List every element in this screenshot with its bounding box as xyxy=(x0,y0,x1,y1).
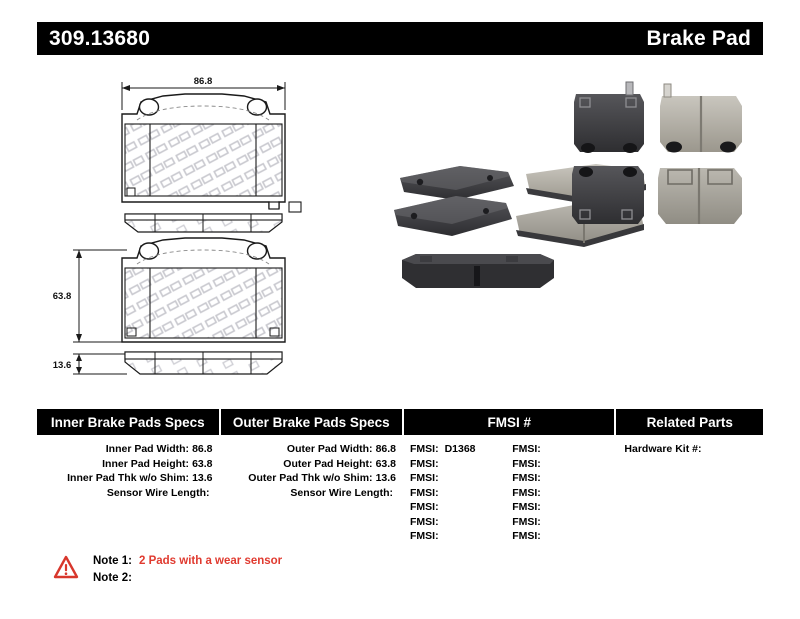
fmsi-right-column: FMSI: FMSI: FMSI: FMSI: FMSI: xyxy=(512,442,614,544)
fmsi-row: FMSI: xyxy=(410,515,512,530)
spec-row: Inner Pad Thk w/o Shim:13.6 xyxy=(37,471,219,486)
note-value: 2 Pads with a wear sensor xyxy=(139,555,282,567)
fmsi-label: FMSI: xyxy=(512,443,541,455)
fmsi-label: FMSI: xyxy=(410,458,439,470)
photo-pad-topdown-4 xyxy=(658,168,742,224)
notes-section: Note 1:2 Pads with a wear sensor Note 2: xyxy=(53,553,553,587)
specifications-table: Inner Brake Pads Specs Inner Pad Width:8… xyxy=(37,409,763,534)
fmsi-label: FMSI: xyxy=(410,501,439,513)
photo-pad-topdown-2 xyxy=(572,166,644,224)
spec-label: Sensor Wire Length: xyxy=(290,487,393,499)
note-row-2: Note 2: xyxy=(93,570,282,587)
column-body-related-parts: Hardware Kit #: xyxy=(616,435,763,457)
column-body-inner-specs: Inner Pad Width:86.8 Inner Pad Height:63… xyxy=(37,435,219,500)
fmsi-left-column: FMSI:D1368 FMSI: FMSI: FMSI: FMSI: xyxy=(410,442,512,544)
column-body-fmsi: FMSI:D1368 FMSI: FMSI: FMSI: FMSI: xyxy=(404,435,614,544)
spec-row: Outer Pad Height:63.8 xyxy=(221,457,403,472)
spec-label: Inner Pad Thk w/o Shim: xyxy=(67,472,189,484)
column-outer-specs: Outer Brake Pads Specs Outer Pad Width:8… xyxy=(221,409,403,534)
column-header-inner-specs: Inner Brake Pads Specs xyxy=(37,409,219,435)
spec-row: Inner Pad Height:63.8 xyxy=(37,457,219,472)
fmsi-row: FMSI: xyxy=(512,471,614,486)
fmsi-label: FMSI: xyxy=(410,516,439,528)
fmsi-row: FMSI: xyxy=(512,529,614,544)
fmsi-row: FMSI: xyxy=(512,457,614,472)
spec-label: Outer Pad Height: xyxy=(283,458,372,470)
fmsi-row: FMSI: xyxy=(410,457,512,472)
fmsi-row: FMSI: xyxy=(512,442,614,457)
spec-label: Sensor Wire Length: xyxy=(107,487,210,499)
part-number: 309.13680 xyxy=(49,27,150,51)
photo-pad-angled-2 xyxy=(394,196,512,236)
brake-pad-spec-sheet: 309.13680 Brake Pad xyxy=(0,0,800,619)
spec-value: 13.6 xyxy=(376,472,396,484)
spec-row: Outer Pad Thk w/o Shim:13.6 xyxy=(221,471,403,486)
fmsi-label: FMSI: xyxy=(410,472,439,484)
photo-pad-topdown-1 xyxy=(574,82,644,153)
fmsi-row: FMSI: xyxy=(512,500,614,515)
column-fmsi: FMSI # FMSI:D1368 FMSI: FMSI: xyxy=(404,409,614,534)
notes-text-block: Note 1:2 Pads with a wear sensor Note 2: xyxy=(93,553,282,587)
spec-value: 13.6 xyxy=(192,472,212,484)
fmsi-row: FMSI: xyxy=(410,500,512,515)
product-photos-svg xyxy=(390,70,770,360)
warning-triangle-icon xyxy=(53,554,79,580)
spec-label: Outer Pad Thk w/o Shim: xyxy=(248,472,372,484)
title-bar: 309.13680 Brake Pad xyxy=(37,22,763,55)
fmsi-label: FMSI: xyxy=(512,472,541,484)
side-view-height-dimension: 63.8 xyxy=(53,291,72,302)
spec-value: 63.8 xyxy=(192,458,212,470)
spec-row: Sensor Wire Length: xyxy=(37,486,219,501)
related-part-row: Hardware Kit #: xyxy=(616,442,763,457)
fmsi-row: FMSI: xyxy=(512,515,614,530)
column-inner-specs: Inner Brake Pads Specs Inner Pad Width:8… xyxy=(37,409,219,534)
note-row-1: Note 1:2 Pads with a wear sensor xyxy=(93,553,282,570)
spec-row: Sensor Wire Length: xyxy=(221,486,403,501)
column-related-parts: Related Parts Hardware Kit #: xyxy=(616,409,763,534)
fmsi-label: FMSI: xyxy=(410,530,439,542)
photo-pad-edge-view xyxy=(402,254,554,288)
spec-label: Inner Pad Width: xyxy=(106,443,189,455)
column-header-outer-specs: Outer Brake Pads Specs xyxy=(221,409,403,435)
fmsi-label: FMSI: xyxy=(512,487,541,499)
fmsi-label: FMSI: xyxy=(410,443,439,455)
product-type: Brake Pad xyxy=(646,27,751,51)
column-header-related-parts: Related Parts xyxy=(616,409,763,435)
note-label: Note 1: xyxy=(93,553,132,570)
spec-label: Inner Pad Height: xyxy=(102,458,189,470)
fmsi-row: FMSI: xyxy=(512,486,614,501)
product-photos xyxy=(390,70,770,360)
spec-row: Outer Pad Width:86.8 xyxy=(221,442,403,457)
photo-topdown-pads xyxy=(572,82,742,224)
fmsi-label: FMSI: xyxy=(512,516,541,528)
front-view-drawing: 86.8 xyxy=(122,76,285,209)
fmsi-row: FMSI:D1368 xyxy=(410,442,512,457)
fmsi-label: FMSI: xyxy=(410,487,439,499)
side-view-edge-profile xyxy=(125,352,282,374)
related-part-label: Hardware Kit #: xyxy=(624,443,701,455)
spec-value: 63.8 xyxy=(376,458,396,470)
column-body-outer-specs: Outer Pad Width:86.8 Outer Pad Height:63… xyxy=(221,435,403,500)
spec-value: 86.8 xyxy=(192,443,212,455)
fmsi-label: FMSI: xyxy=(512,530,541,542)
spec-label: Outer Pad Width: xyxy=(287,443,373,455)
front-view-width-dimension: 86.8 xyxy=(194,76,213,87)
fmsi-label: FMSI: xyxy=(512,458,541,470)
fmsi-value: D1368 xyxy=(445,443,476,455)
fmsi-row: FMSI: xyxy=(410,529,512,544)
column-header-fmsi: FMSI # xyxy=(404,409,614,435)
fmsi-label: FMSI: xyxy=(512,501,541,513)
side-view-thickness-dimension: 13.6 xyxy=(53,360,72,371)
fmsi-row: FMSI: xyxy=(410,471,512,486)
spec-row: Inner Pad Width:86.8 xyxy=(37,442,219,457)
spec-value: 86.8 xyxy=(376,443,396,455)
note-label: Note 2: xyxy=(93,570,132,587)
photo-pad-topdown-3 xyxy=(660,84,742,153)
photo-pad-angled-1 xyxy=(400,166,514,200)
fmsi-row: FMSI: xyxy=(410,486,512,501)
